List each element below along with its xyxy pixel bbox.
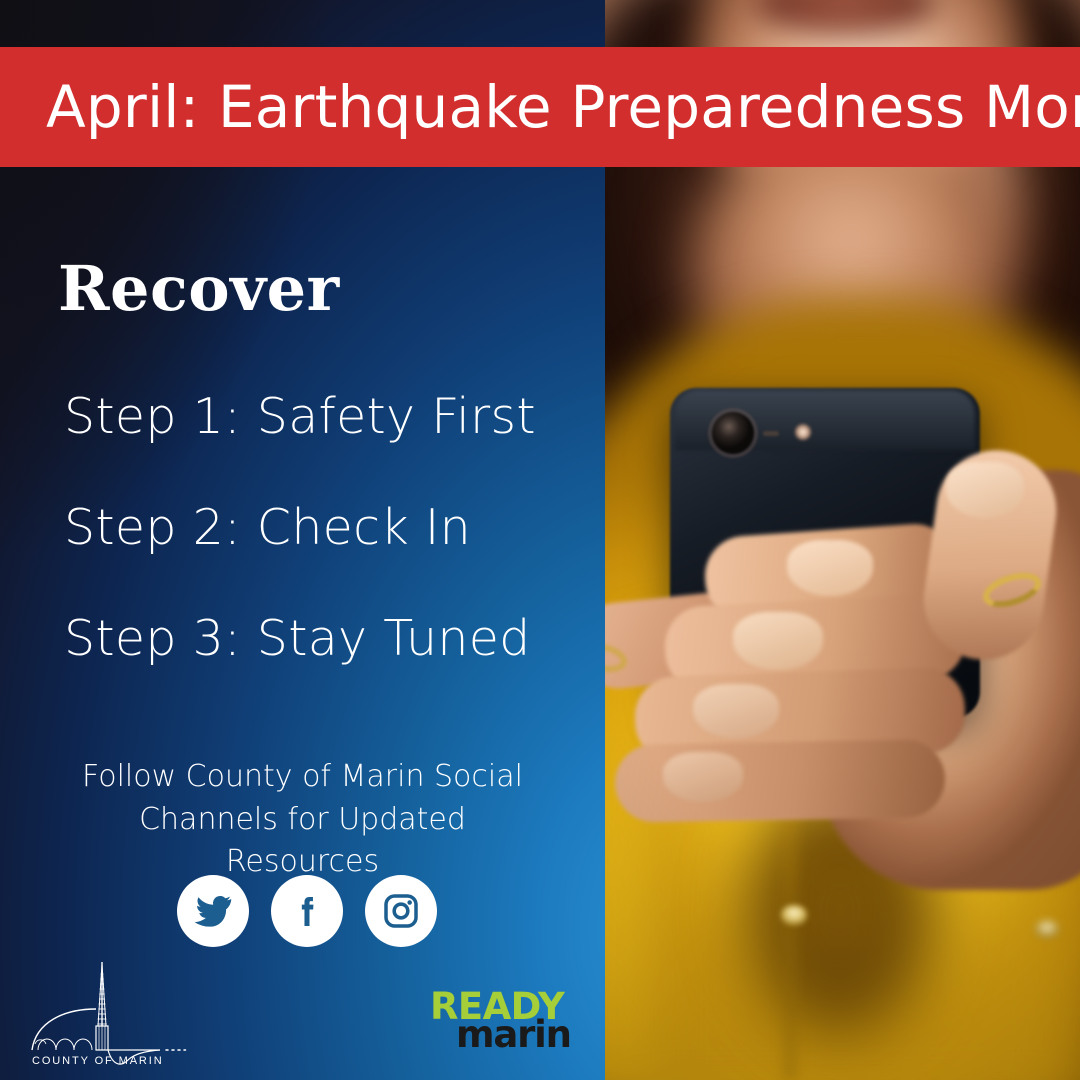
step-item-2: Step 2: Check In: [64, 503, 564, 552]
twitter-icon: [193, 891, 233, 931]
social-link-instagram[interactable]: [365, 875, 437, 947]
title-banner: April: Earthquake Preparedness Month: [0, 47, 1080, 167]
social-links: [0, 875, 605, 947]
step-item-1: Step 1: Safety First: [64, 392, 564, 441]
county-wordmark: COUNTY OF MARIN: [32, 1055, 164, 1067]
marin-word: marin: [456, 1016, 580, 1053]
social-link-facebook[interactable]: [271, 875, 343, 947]
step-item-3: Step 3: Stay Tuned: [64, 614, 564, 663]
follow-line-2: Channels for Updated Resources: [60, 799, 545, 884]
county-of-marin-logo: COUNTY OF MARIN: [28, 952, 228, 1070]
banner-title: April: Earthquake Preparedness Month: [0, 78, 1080, 136]
instagram-icon: [381, 891, 421, 931]
ready-marin-logo: READY marin: [430, 988, 580, 1054]
facebook-icon: [287, 891, 327, 931]
steps-list: Step 1: Safety First Step 2: Check In St…: [64, 392, 564, 663]
follow-callout: Follow County of Marin Social Channels f…: [0, 756, 605, 884]
page-title: Recover: [58, 258, 340, 320]
follow-line-1: Follow County of Marin Social: [60, 756, 545, 799]
poster: April: Earthquake Preparedness Month Rec…: [0, 0, 1080, 1080]
social-link-twitter[interactable]: [177, 875, 249, 947]
